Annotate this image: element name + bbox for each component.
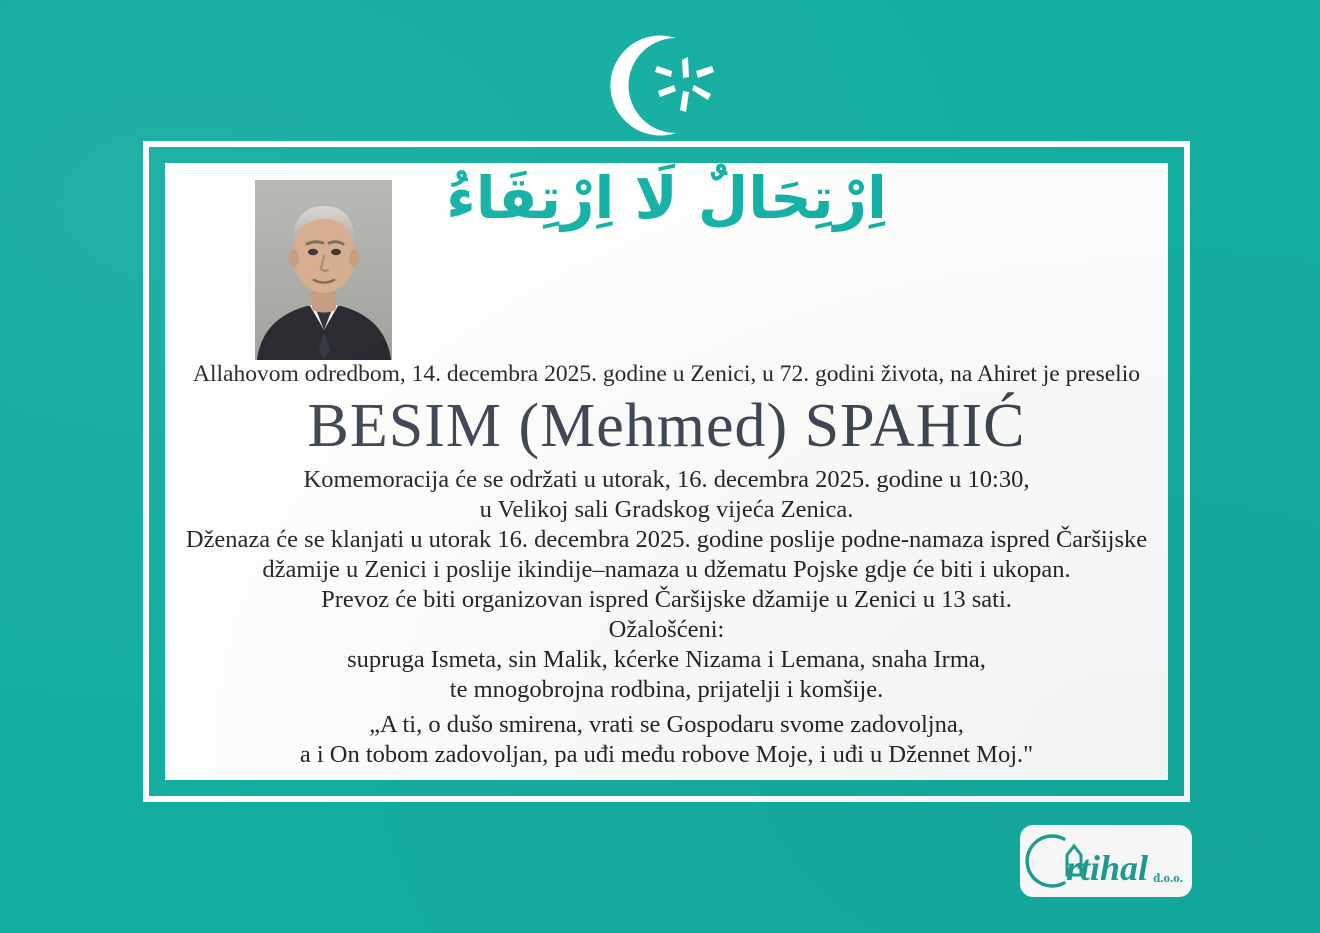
notice-line: u Velikoj sali Gradskog vijeća Zenica. <box>165 495 1168 525</box>
notice-line: Dženaza će se klanjati u utorak 16. dece… <box>165 525 1168 555</box>
obituary-card: اِرْتِحَالٌ لَا اِرْتِقَاءُ <box>165 163 1168 780</box>
svg-text:rtihal: rtihal <box>1066 848 1148 888</box>
obituary-poster: اِرْتِحَالٌ لَا اِرْتِقَاءُ <box>0 0 1320 933</box>
notice-lead: Allahovom odredbom, 14. decembra 2025. g… <box>165 359 1168 389</box>
svg-text:d.o.o.: d.o.o. <box>1153 870 1183 885</box>
company-logo: rtihal d.o.o. <box>1020 825 1192 897</box>
crescent-moon-and-star-icon <box>604 33 726 138</box>
notice-line: džamije u Zenici i poslije ikindije–nama… <box>165 555 1168 585</box>
quran-quote-line: a i On tobom zadovoljan, pa uđi među rob… <box>165 740 1168 770</box>
portrait-photo <box>255 180 392 360</box>
notice-line: Prevoz će biti organizovan ispred Čaršij… <box>165 585 1168 615</box>
mourners-heading: Ožalošćeni: <box>165 615 1168 645</box>
notice-line: Komemoracija će se održati u utorak, 16.… <box>165 465 1168 495</box>
deceased-name: BESIM (Mehmed) SPAHIĆ <box>165 391 1168 461</box>
mourners-line: supruga Ismeta, sin Malik, kćerke Nizama… <box>165 645 1168 675</box>
mourners-line: te mnogobrojna rodbina, prijatelji i kom… <box>165 675 1168 705</box>
quran-quote-line: „A ti, o dušo smirena, vrati se Gospodar… <box>165 710 1168 740</box>
notice-text: Allahovom odredbom, 14. decembra 2025. g… <box>165 359 1168 770</box>
